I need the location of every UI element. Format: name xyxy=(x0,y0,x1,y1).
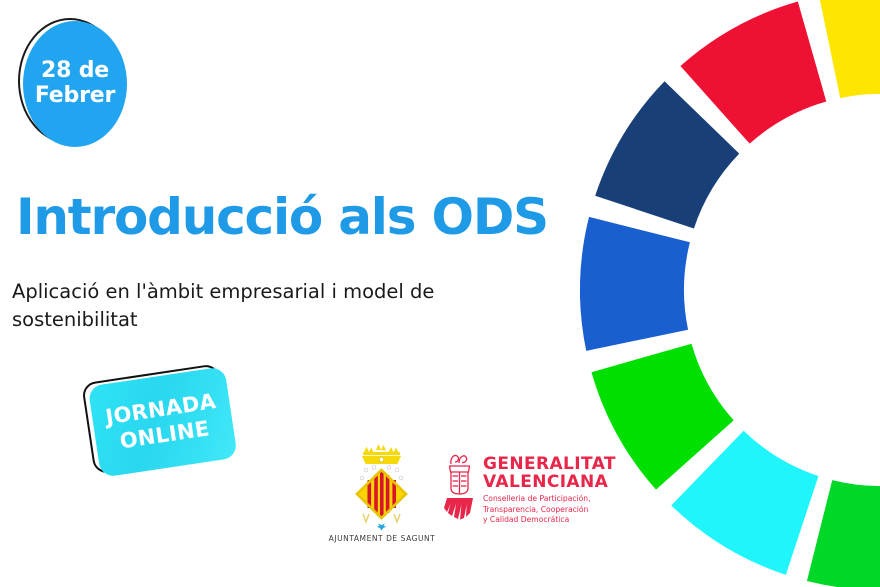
sagunt-crest-icon xyxy=(302,440,462,532)
generalitat-dept-line-3: y Calidad Democrática xyxy=(483,515,569,524)
sdg-wheel-segment-2 xyxy=(680,1,826,143)
page-subtitle: Aplicació en l'àmbit empresarial i model… xyxy=(12,278,482,334)
sdg-wheel-segments xyxy=(580,0,880,587)
generalitat-dept-line-1: Conselleria de Participación, xyxy=(483,494,591,503)
sdg-wheel-segment-1 xyxy=(819,0,880,100)
date-badge-line-2: Febrer xyxy=(35,83,115,108)
poster-canvas: 28 de Febrer Introducció als ODS Aplicac… xyxy=(0,0,880,587)
date-badge-text: 28 de Febrer xyxy=(35,59,115,108)
sdg-wheel-segment-7 xyxy=(807,480,880,587)
generalitat-dept-line-2: Transparencia, Cooperación xyxy=(483,505,588,514)
generalitat-department: Conselleria de Participación, Transparen… xyxy=(483,494,616,525)
generalitat-name-line-2: VALENCIANA xyxy=(483,472,608,492)
online-badge-fill: JORNADA ONLINE xyxy=(88,366,238,477)
logo-ajuntament-sagunt: AJUNTAMENT DE SAGUNT xyxy=(302,440,462,543)
online-badge-text: JORNADA ONLINE xyxy=(104,388,222,456)
logo-generalitat-valenciana: GENERALITAT VALENCIANA Conselleria de Pa… xyxy=(443,450,618,525)
date-badge-line-1: 28 de xyxy=(41,58,109,83)
generalitat-emblem-icon xyxy=(443,450,477,524)
date-badge: 28 de Febrer xyxy=(18,18,128,150)
sdg-colour-wheel xyxy=(580,0,880,587)
sdg-wheel-segment-6 xyxy=(671,431,818,575)
page-title: Introducció als ODS xyxy=(16,192,548,242)
sdg-wheel-segment-3 xyxy=(595,81,739,228)
generalitat-text-block: GENERALITAT VALENCIANA Conselleria de Pa… xyxy=(483,450,616,525)
sdg-wheel-segment-4 xyxy=(580,217,690,351)
sagunt-crest-label: AJUNTAMENT DE SAGUNT xyxy=(302,534,462,543)
generalitat-name: GENERALITAT VALENCIANA xyxy=(483,456,616,491)
date-badge-disc: 28 de Febrer xyxy=(23,21,127,147)
online-session-badge: JORNADA ONLINE xyxy=(81,361,245,486)
